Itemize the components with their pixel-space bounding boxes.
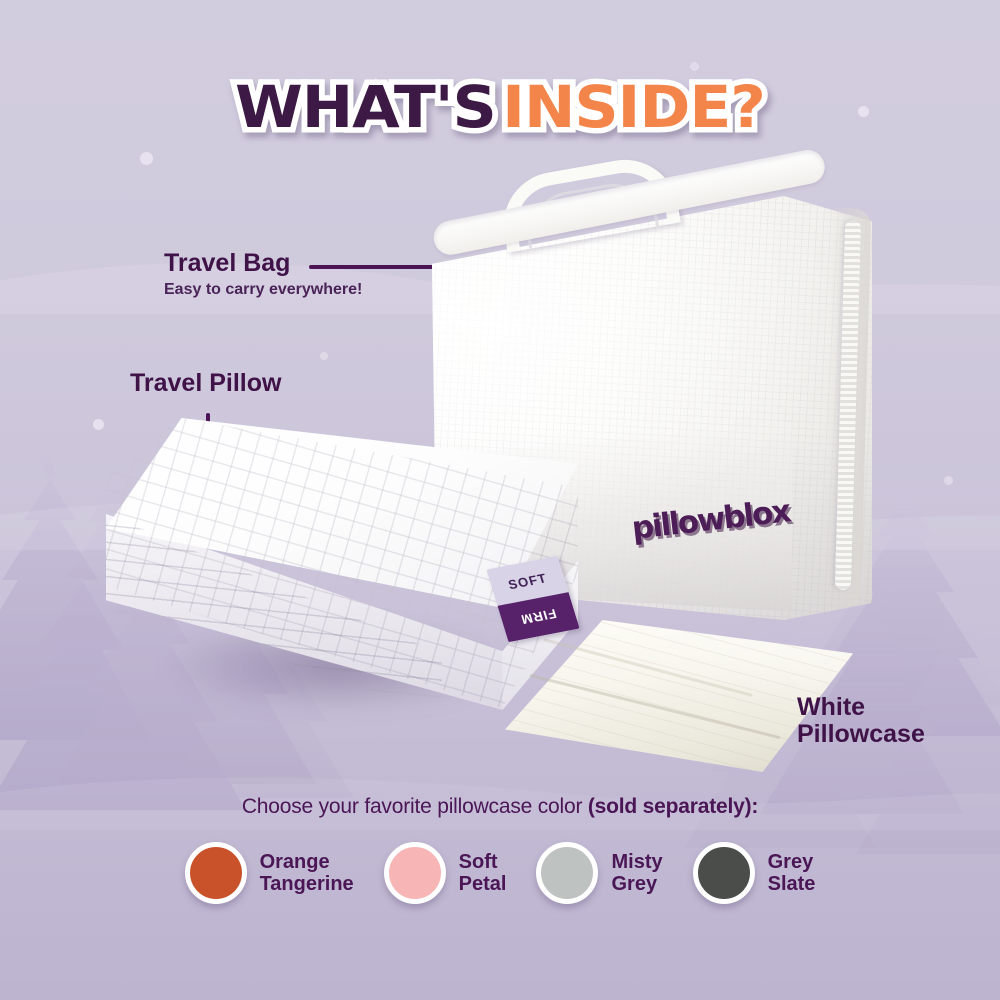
swatch-soft-petal[interactable]: Soft Petal bbox=[384, 842, 507, 904]
swatch-grey-slate[interactable]: Grey Slate bbox=[693, 842, 816, 904]
swatch-orange-tangerine[interactable]: Orange Tangerine bbox=[185, 842, 354, 904]
swatch-misty-grey[interactable]: Misty Grey bbox=[536, 842, 662, 904]
swatch-label: Orange Tangerine bbox=[260, 851, 354, 896]
callout-travel-bag-subtitle: Easy to carry everywhere! bbox=[164, 281, 362, 299]
swatch-color-circle[interactable] bbox=[536, 842, 598, 904]
callout-white-pillowcase: White Pillowcase bbox=[797, 694, 925, 748]
swatch-color-circle[interactable] bbox=[185, 842, 247, 904]
callout-white-pillowcase-line2: Pillowcase bbox=[797, 721, 925, 748]
swatch-label: Grey Slate bbox=[768, 851, 816, 896]
pillowcase-color-swatches: Orange Tangerine Soft Petal Misty Grey G… bbox=[0, 842, 1000, 904]
swatch-color-circle[interactable] bbox=[384, 842, 446, 904]
callout-travel-bag-title: Travel Bag bbox=[164, 250, 362, 277]
chooser-text-regular: Choose your favorite pillowcase color bbox=[242, 795, 588, 818]
title-part-inside: INSIDE? bbox=[502, 78, 765, 136]
infographic-canvas: WHAT'SINSIDE? pillowblox SOFT bbox=[0, 0, 1000, 1000]
swatch-label: Misty Grey bbox=[611, 851, 662, 896]
chooser-text-bold: (sold separately): bbox=[588, 795, 758, 818]
callout-travel-pillow: Travel Pillow bbox=[130, 370, 281, 397]
title-part-whats: WHAT'S bbox=[235, 78, 496, 136]
page-title: WHAT'SINSIDE? bbox=[0, 78, 1000, 136]
swatch-label: Soft Petal bbox=[459, 851, 507, 896]
callout-travel-pillow-title: Travel Pillow bbox=[130, 370, 281, 397]
callout-travel-bag: Travel Bag Easy to carry everywhere! bbox=[164, 250, 362, 299]
pillowcase-color-prompt: Choose your favorite pillowcase color (s… bbox=[0, 795, 1000, 819]
callout-white-pillowcase-line1: White bbox=[797, 694, 925, 721]
swatch-color-circle[interactable] bbox=[693, 842, 755, 904]
